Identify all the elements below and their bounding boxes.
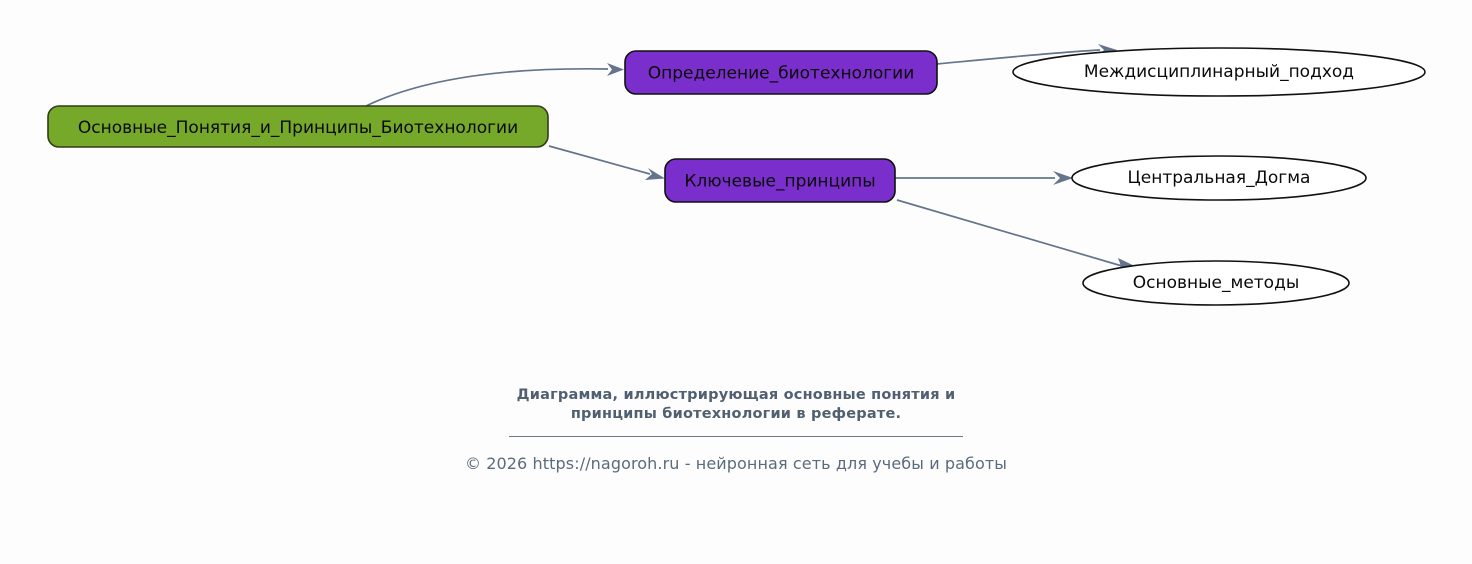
- node-central-dogma-label: Центральная_Догма: [1128, 168, 1311, 188]
- caption-line-2: принципы биотехнологии в реферате.: [456, 405, 1016, 424]
- edge-principles-to-main-methods: [897, 200, 1141, 273]
- node-definition-label: Определение_биотехнологии: [648, 64, 915, 84]
- node-definition[interactable]: Определение_биотехнологии: [625, 51, 937, 94]
- node-root[interactable]: Основные_Понятия_и_Принципы_Биотехнологи…: [48, 106, 548, 147]
- node-root-label: Основные_Понятия_и_Принципы_Биотехнологи…: [78, 118, 518, 138]
- footer-divider: [509, 436, 963, 437]
- node-interdisciplinary[interactable]: Междисциплинарный_подход: [1013, 48, 1425, 96]
- node-interdisciplinary-label: Междисциплинарный_подход: [1084, 62, 1354, 82]
- diagram-page: Основные_Понятия_и_Принципы_Биотехнологи…: [0, 0, 1472, 564]
- node-principles[interactable]: Ключевые_принципы: [665, 159, 895, 202]
- footer: Диаграмма, иллюстрирующая основные понят…: [0, 386, 1472, 473]
- node-main-methods[interactable]: Основные_методы: [1083, 261, 1349, 305]
- nodes-layer: Основные_Понятия_и_Принципы_Биотехнологи…: [48, 48, 1425, 305]
- edge-root-to-principles: [549, 146, 665, 180]
- edge-principles-to-central-dogma: [895, 171, 1073, 185]
- caption-line-1: Диаграмма, иллюстрирующая основные понят…: [456, 386, 1016, 405]
- node-main-methods-label: Основные_методы: [1133, 273, 1300, 293]
- node-principles-label: Ключевые_принципы: [684, 172, 875, 192]
- diagram-canvas: Основные_Понятия_и_Принципы_Биотехнологи…: [0, 0, 1472, 564]
- edge-root-to-definition: [366, 63, 624, 106]
- diagram-caption: Диаграмма, иллюстрирующая основные понят…: [456, 386, 1016, 425]
- copyright-text: © 2026 https://nagoroh.ru - нейронная се…: [0, 454, 1472, 473]
- node-central-dogma[interactable]: Центральная_Догма: [1072, 156, 1366, 200]
